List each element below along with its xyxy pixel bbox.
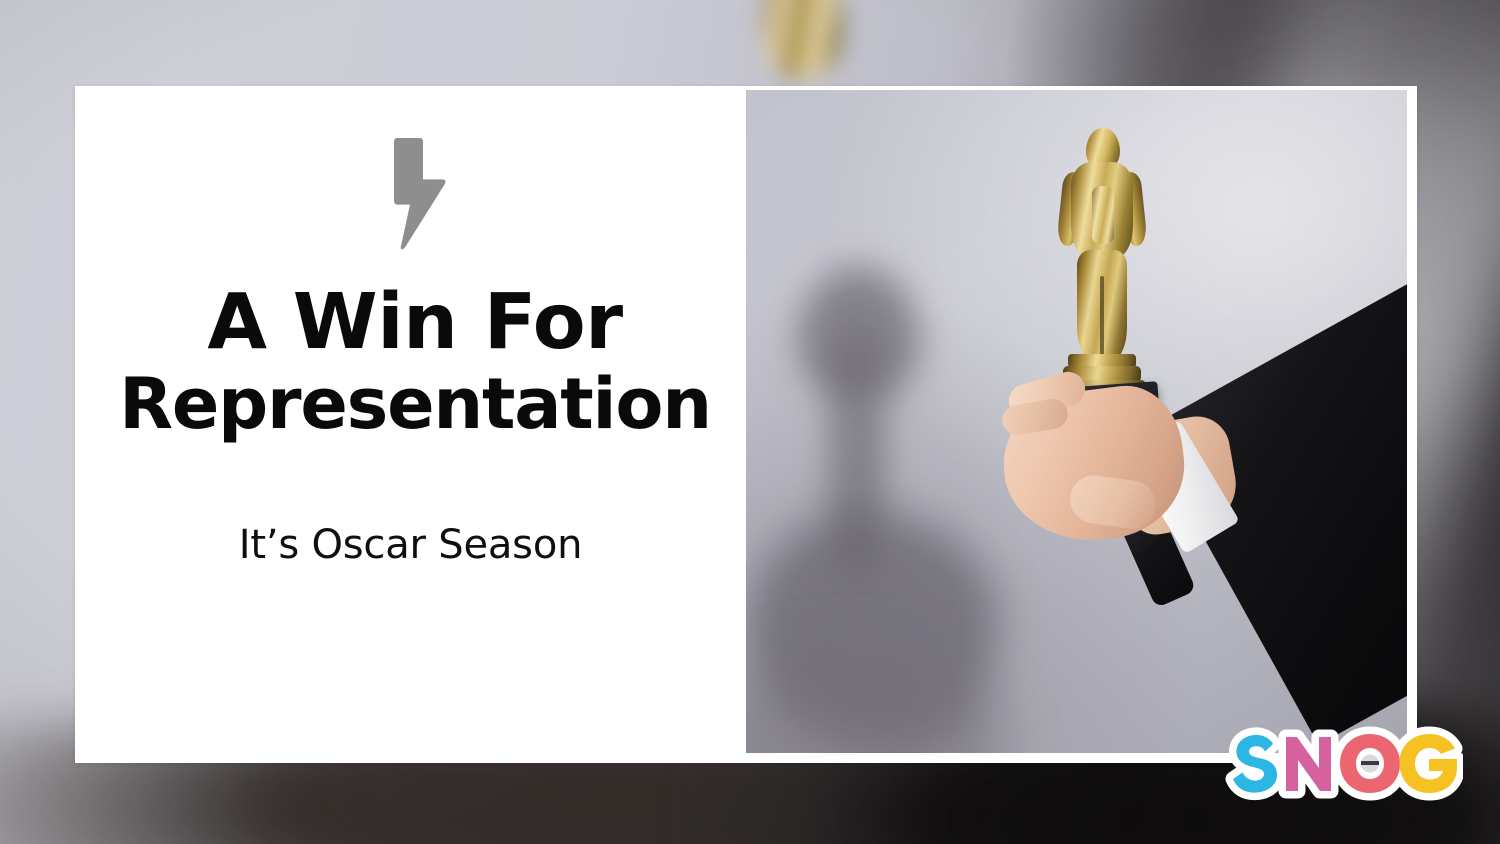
snog-logo[interactable] [1225, 718, 1463, 804]
oscar-photo [746, 90, 1407, 753]
page-subtitle: It’s Oscar Season [75, 522, 746, 568]
text-column: A Win For Representation It’s Oscar Seas… [75, 86, 746, 763]
statuette-leg-split [1100, 276, 1104, 358]
snog-letter-o-inner-bar [1361, 761, 1379, 765]
statuette-sword [1092, 186, 1114, 244]
photo-panel [746, 86, 1417, 763]
content-card: A Win For Representation It’s Oscar Seas… [75, 86, 1417, 763]
slide-canvas: A Win For Representation It’s Oscar Seas… [0, 0, 1500, 844]
headline-line-1: A Win For [55, 284, 775, 363]
oscar-statuette [1046, 128, 1176, 398]
headline-line-2: Representation [55, 369, 775, 440]
lightning-bolt-icon [75, 136, 746, 257]
page-title: A Win For Representation [55, 284, 775, 440]
